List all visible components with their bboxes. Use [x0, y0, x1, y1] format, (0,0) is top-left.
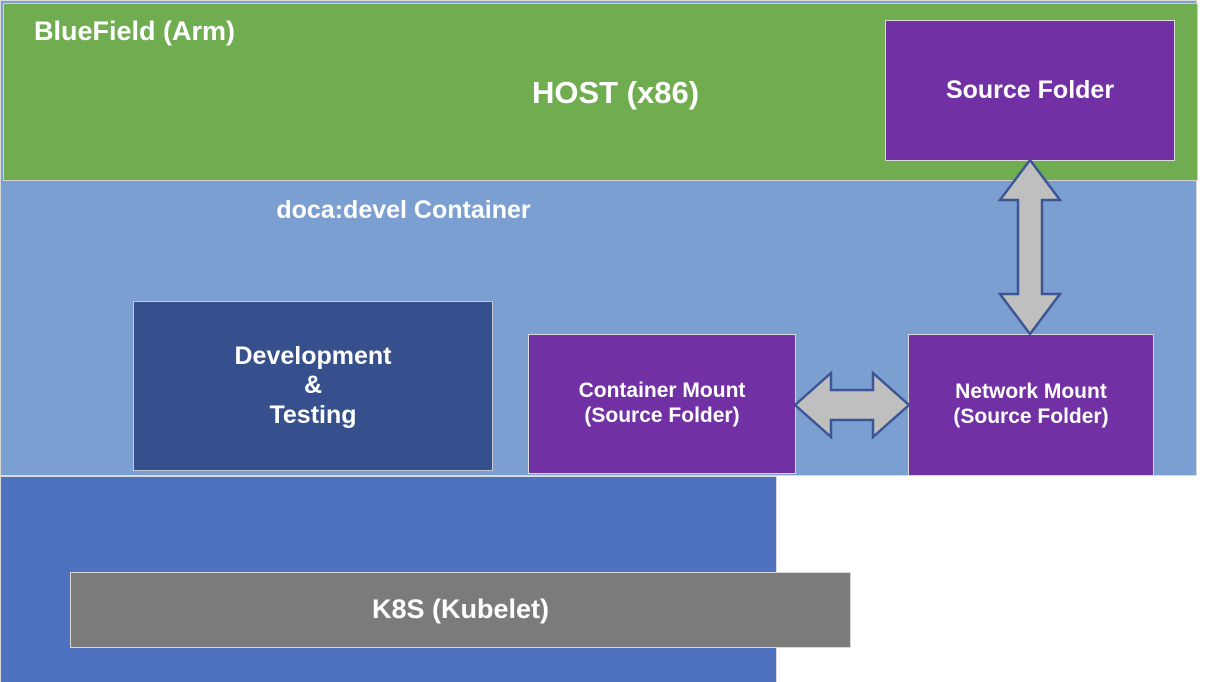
k8s-kubelet-box: K8S (Kubelet) [70, 572, 851, 648]
network-mount-subtitle: (Source Folder) [953, 405, 1108, 430]
diagram-canvas: HOST (x86) Source Folder BlueField (Arm)… [0, 0, 1211, 682]
container-mount-title: Container Mount [579, 379, 746, 404]
network-mount-title: Network Mount [955, 380, 1107, 405]
k8s-label: K8S (Kubelet) [372, 594, 549, 626]
development-testing-box: Development & Testing [133, 301, 493, 471]
horizontal-bidirectional-arrow-icon [793, 370, 911, 440]
bluefield-label: BlueField (Arm) [34, 16, 235, 47]
ampersand-line: & [304, 371, 322, 401]
testing-line: Testing [269, 401, 356, 431]
source-folder-label: Source Folder [946, 76, 1114, 106]
container-mount-subtitle: (Source Folder) [584, 404, 739, 429]
development-line: Development [235, 342, 392, 372]
doca-devel-container-label: doca:devel Container [16, 196, 791, 225]
source-folder-box: Source Folder [885, 20, 1175, 161]
network-mount-box: Network Mount (Source Folder) [908, 334, 1154, 476]
vertical-bidirectional-arrow-icon [997, 158, 1063, 336]
container-mount-box: Container Mount (Source Folder) [528, 334, 796, 474]
